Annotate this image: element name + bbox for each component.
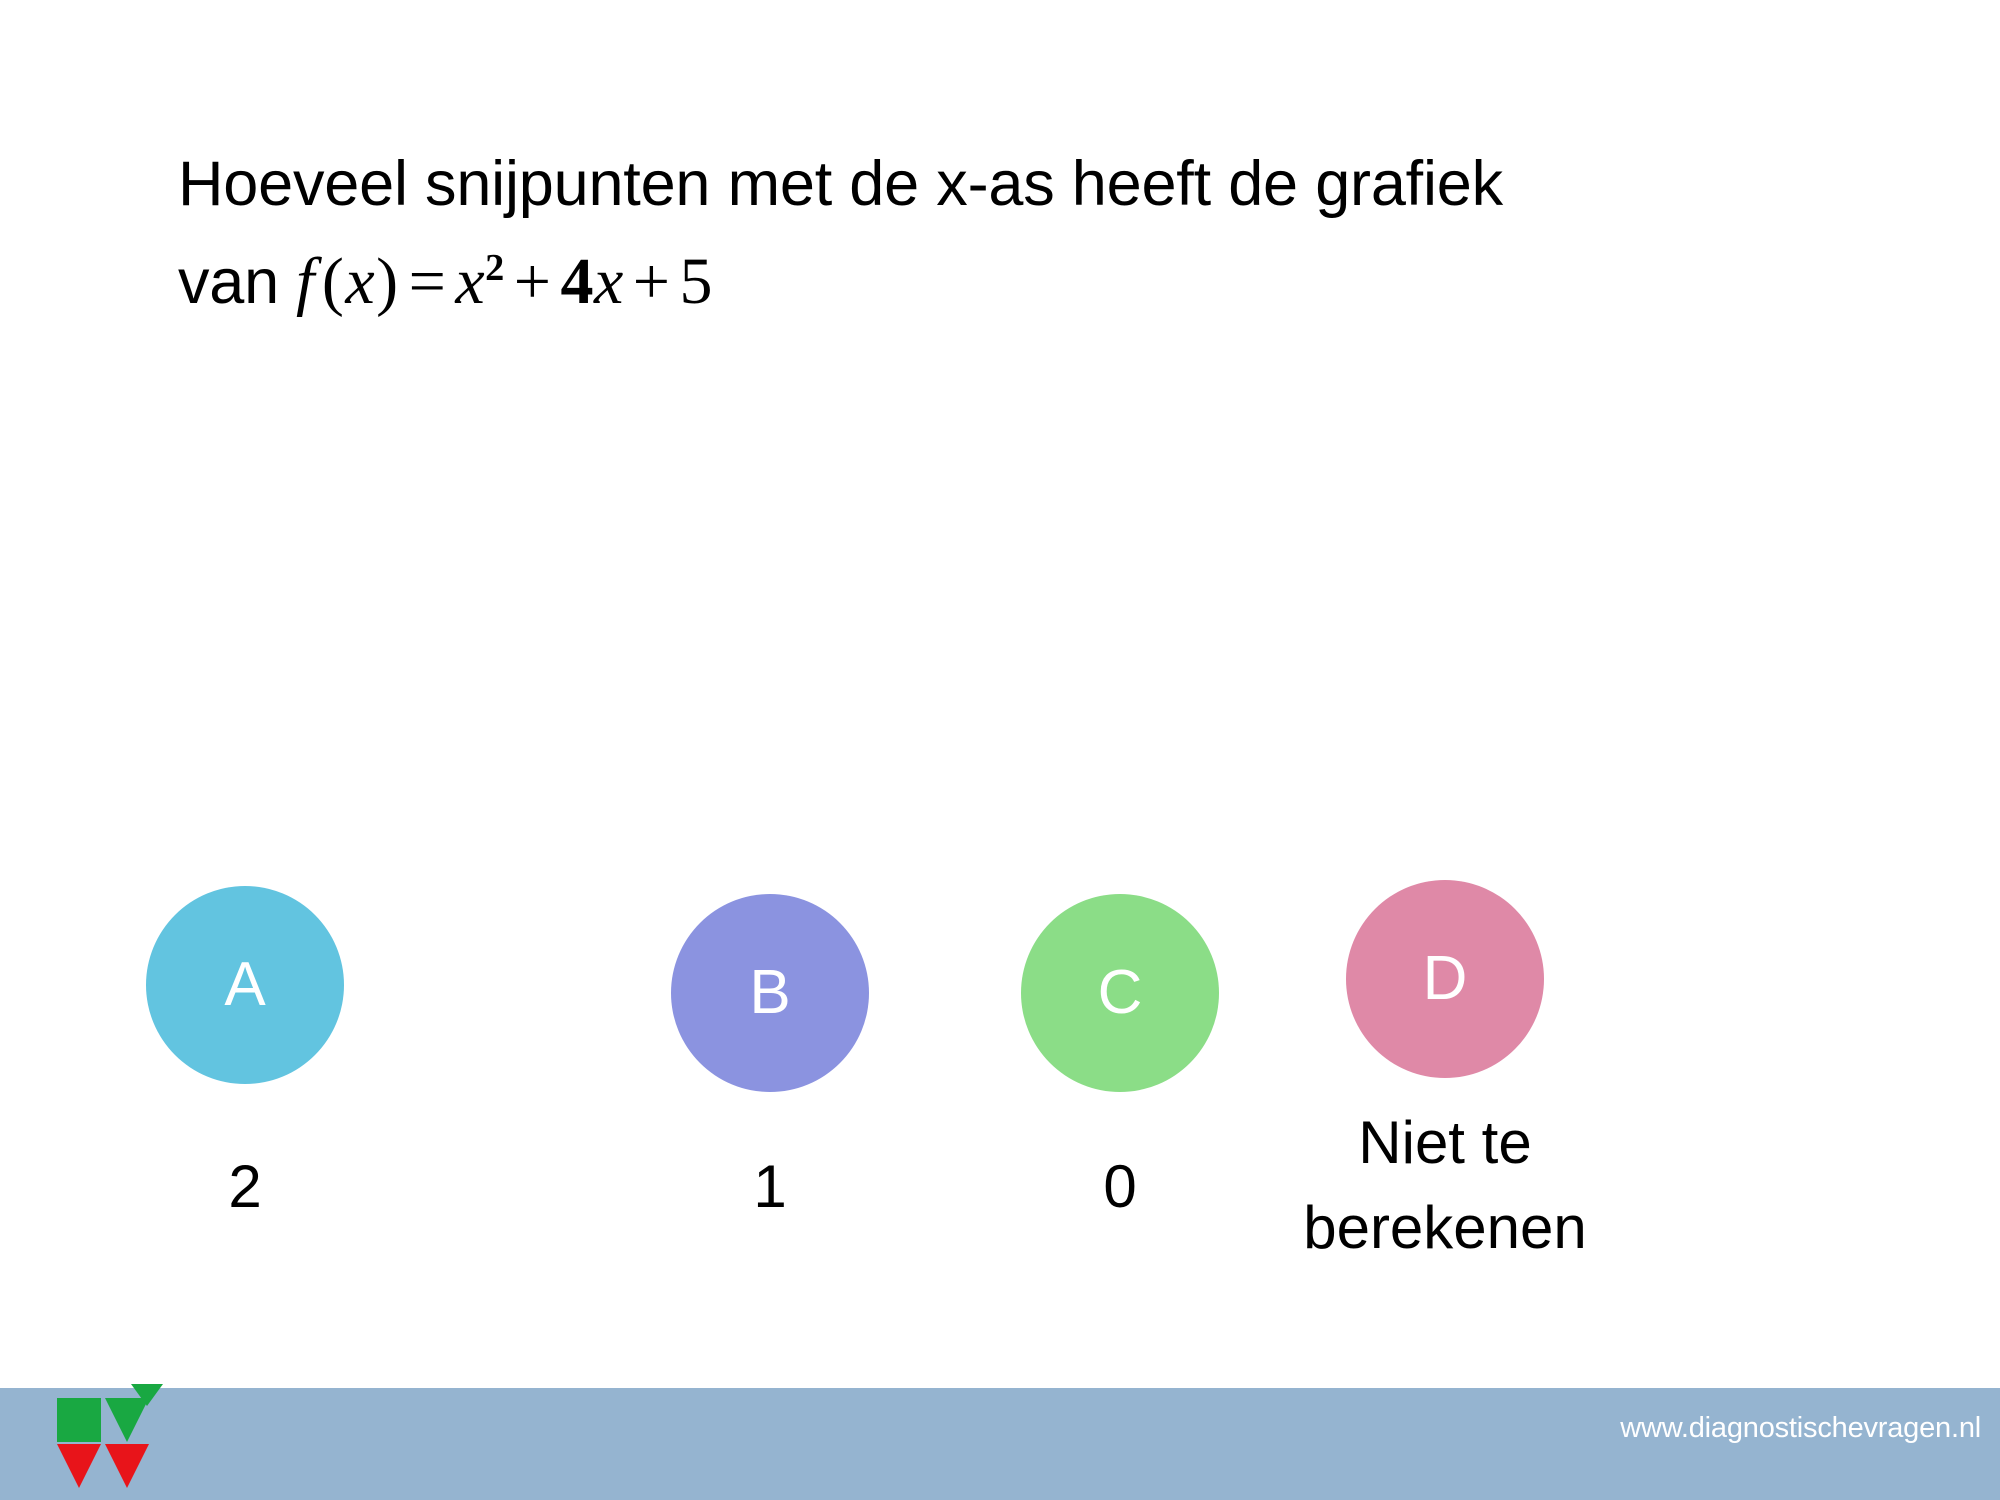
formula-term2-coefficient: 4 xyxy=(561,245,595,318)
footer-website-url[interactable]: www.diagnostischevragen.nl xyxy=(1620,1412,1981,1445)
answer-option-d[interactable]: D Niet te berekenen xyxy=(1285,880,1605,1270)
footer-bar: www.diagnostischevragen.nl xyxy=(0,1388,2000,1500)
formula-equals: = xyxy=(400,245,456,318)
formula-constant: 5 xyxy=(680,245,714,318)
answer-option-a[interactable]: A 2 xyxy=(85,880,405,1229)
formula-expression: f(x)=x2+4x+5 xyxy=(279,245,713,318)
formula-open-paren: ( xyxy=(321,245,345,318)
answer-label-d: Niet te berekenen xyxy=(1285,1100,1605,1270)
answer-bubble-c[interactable]: C xyxy=(1021,894,1219,1092)
formula-function-name: f xyxy=(296,245,321,318)
answer-label-a: 2 xyxy=(85,1144,405,1229)
slide-canvas: Hoeveel snijpunten met de x-as heeft de … xyxy=(0,0,2000,1500)
answer-label-c: 0 xyxy=(960,1144,1280,1229)
diagnostischevragen-logo-icon xyxy=(53,1376,163,1494)
answer-label-b: 1 xyxy=(610,1144,930,1229)
answer-option-b[interactable]: B 1 xyxy=(610,880,930,1229)
formula-plus-1: + xyxy=(505,245,561,318)
formula-plus-2: + xyxy=(624,245,680,318)
formula-variable: x xyxy=(345,245,375,318)
question-block: Hoeveel snijpunten met de x-as heeft de … xyxy=(178,140,1858,329)
answer-bubble-a[interactable]: A xyxy=(146,886,344,1084)
answer-option-c[interactable]: C 0 xyxy=(960,880,1280,1229)
question-text-line-1: Hoeveel snijpunten met de x-as heeft de … xyxy=(178,140,1858,229)
formula-term1-exponent: 2 xyxy=(485,247,505,289)
formula-close-paren: ) xyxy=(375,245,399,318)
answer-bubble-b[interactable]: B xyxy=(671,894,869,1092)
question-line2-prefix: van xyxy=(178,247,279,317)
formula-term2-variable: x xyxy=(594,245,624,318)
answer-bubble-d[interactable]: D xyxy=(1346,880,1544,1078)
answer-options: A 2 B 1 C 0 D Niet te berekenen xyxy=(0,880,2000,1360)
formula-term1-base: x xyxy=(455,245,485,318)
question-text-line-2: van f(x)=x2+4x+5 xyxy=(178,235,1858,329)
